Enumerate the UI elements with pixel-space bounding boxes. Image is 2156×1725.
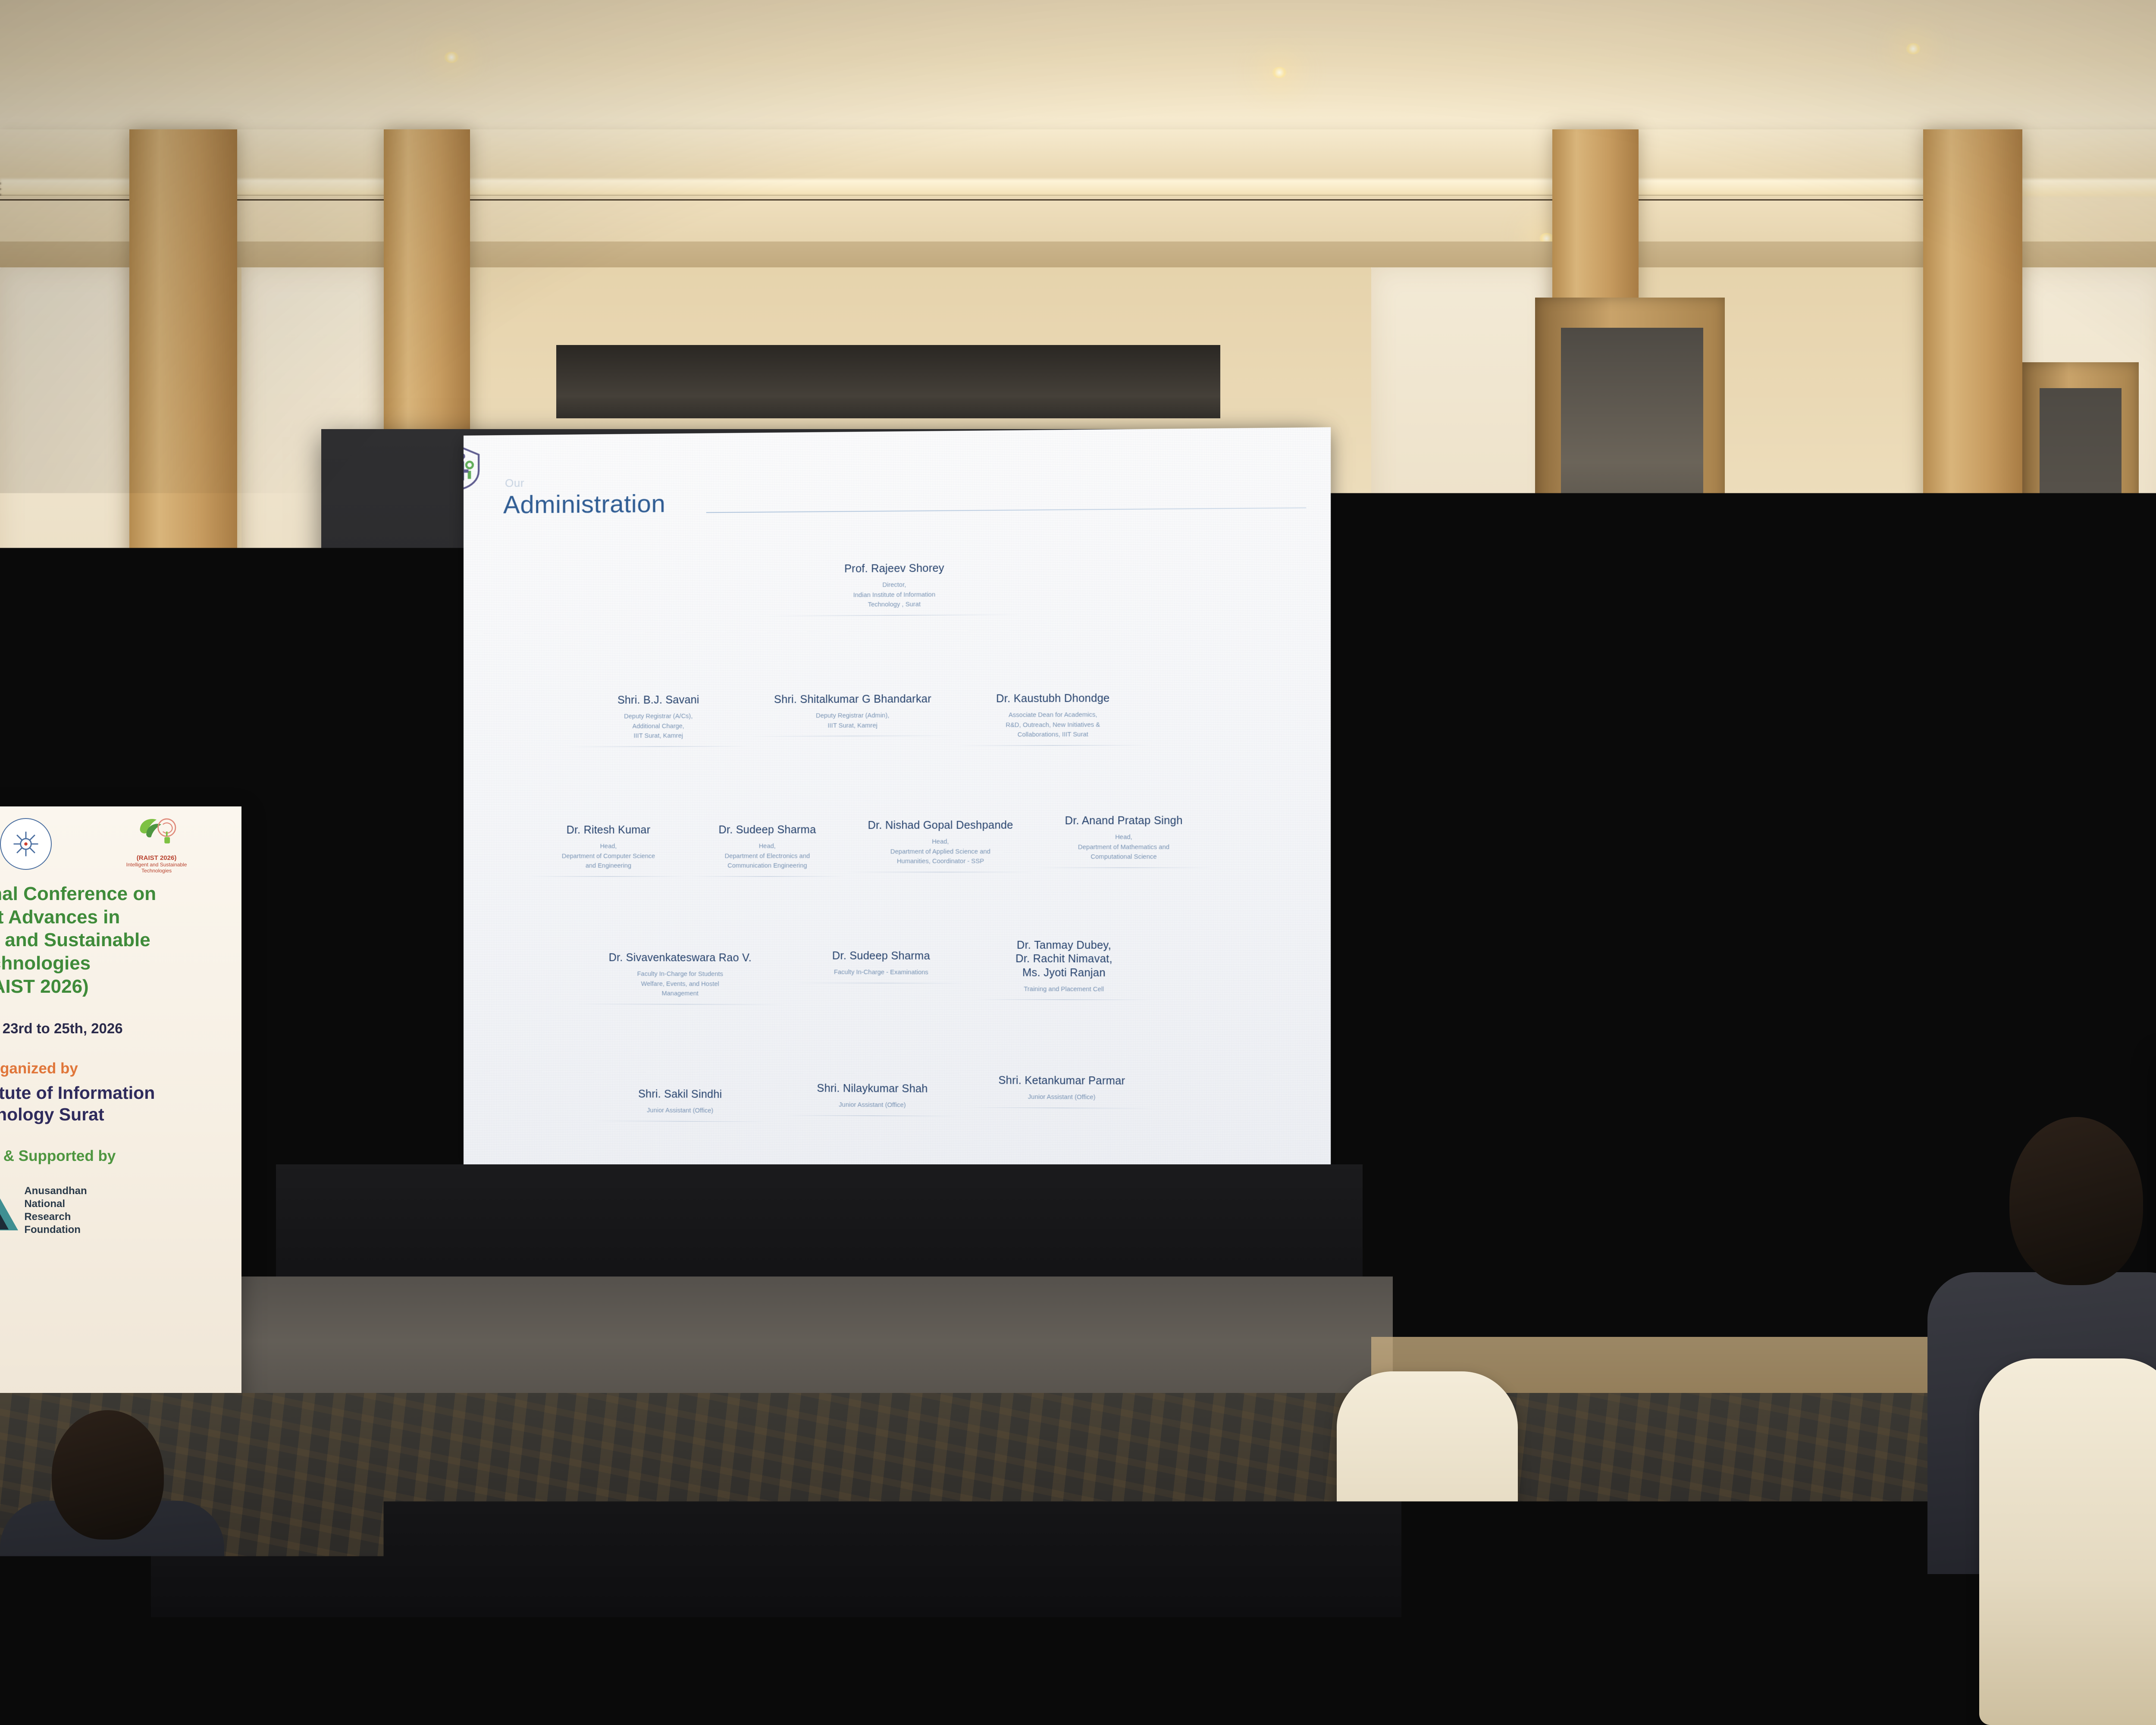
wall-light-strip (129, 750, 241, 762)
raist-mark-line: Technologies (126, 868, 187, 874)
ceiling-downlight (444, 52, 459, 63)
anrf-line: Foundation (1762, 1172, 1820, 1184)
admin-person-role: Deputy Registrar (Admin), IIIT Surat, Ka… (750, 711, 956, 731)
admin-person: Dr. Sudeep Sharma Faculty In-Charge - Ex… (793, 949, 969, 983)
admin-person-rule (1035, 867, 1213, 868)
raist-leaf-brain-logo: (RAIST 2026) Intelligent and Sustainable… (126, 814, 187, 874)
presentation-slide: Our Administration Prof. Rajeev Shorey D… (464, 427, 1331, 1174)
banner-title: International Conference on Recent Advan… (1535, 868, 1996, 975)
admin-person-name: Shri. Sakil Sindhi (593, 1087, 768, 1101)
ceiling-slab (0, 129, 2156, 181)
admin-person-name: Dr. Anand Pratap Singh (1035, 814, 1213, 828)
banner-title-line: International Conference on (1543, 868, 1989, 889)
anrf-line: Anusandhan (24, 1185, 87, 1198)
banner-organizer: Indian Institute of Information Technolo… (1535, 1050, 1996, 1087)
wall-recess (556, 345, 1220, 418)
banner-title-line: Technologies (0, 952, 232, 975)
admin-person: Dr. Ritesh Kumar Head, Department of Com… (528, 823, 689, 876)
ceremonial-lamp-bowl (1412, 988, 1490, 1002)
admin-person: Dr. Nishad Gopal Deshpande Head, Departm… (846, 819, 1035, 872)
admin-person-rule (976, 999, 1153, 1000)
admin-person: Shri. B.J. Savani Deputy Registrar (A/Cs… (567, 693, 749, 747)
admin-person: Dr. Kaustubh Dhondge Associate Dean for … (956, 692, 1150, 746)
banner-date: February 23rd to 25th, 2026 (0, 1020, 241, 1037)
raist-mark-line: (RAIST 2026) (126, 854, 187, 862)
banner-logo-row: (RAIST 2026) Intelligent and Sustainable… (0, 806, 241, 871)
iiit-council-logo (1797, 811, 1844, 858)
slide-title: Administration (503, 489, 665, 519)
admin-person-role: Junior Assistant (Office) (969, 1092, 1155, 1103)
admin-person-name: Dr. Nishad Gopal Deshpande (846, 819, 1035, 832)
anrf-text: Anusandhan National Research Foundation (24, 1185, 87, 1236)
banner-funded-label: Funded & Supported by (0, 1148, 241, 1165)
chair[interactable] (1979, 1358, 2156, 1725)
admin-person: Dr. Tanmay Dubey, Dr. Rachit Nimavat, Ms… (976, 938, 1153, 1000)
banner-date: February 23rd to 25th, 2026 (1535, 995, 1996, 1010)
admin-person-name: Dr. Sudeep Sharma (793, 949, 969, 963)
banner-organizer: Indian Institute of Information Technolo… (0, 1082, 241, 1125)
speaker-at-podium (2147, 819, 2156, 1121)
anrf-text: Anusandhan National Research Foundation (1762, 1136, 1820, 1184)
ceiling-downlight (1272, 67, 1287, 78)
banner-title-line: Intelligent and Sustainable (0, 928, 232, 952)
projection-screen: Our Administration Prof. Rajeev Shorey D… (464, 427, 1331, 1174)
chair[interactable] (1281, 1587, 1483, 1725)
admin-person-rule (689, 876, 846, 877)
ministry-of-education-logo (1686, 811, 1733, 858)
admin-person: Shri. Nilaykumar Shah Junior Assistant (… (785, 1082, 960, 1116)
admin-person-name: Shri. Nilaykumar Shah (785, 1082, 960, 1096)
admin-person-name: Dr. Tanmay Dubey, Dr. Rachit Nimavat, Ms… (976, 938, 1153, 980)
admin-person-role: Head, Department of Applied Science and … (846, 837, 1035, 866)
banner-organizer-line: Indian Institute of Information (1535, 1050, 1996, 1068)
admin-person-name: Prof. Rajeev Shorey (767, 561, 1022, 576)
idol-crown (1479, 980, 1539, 1016)
iiit-surat-shield-logo (1582, 811, 1622, 858)
admin-person: Shri. Ketankumar Parmar Junior Assistant… (969, 1074, 1155, 1109)
admin-person-rule (567, 746, 749, 747)
admin-person-rule (767, 614, 1022, 616)
admin-person-role: Faculty In-Charge - Examinations (793, 968, 969, 978)
attendee-head (52, 1410, 164, 1540)
chair[interactable] (1751, 1345, 1940, 1673)
admin-person-name: Dr. Sivavenkateswara Rao V. (576, 951, 785, 965)
admin-person-rule (846, 872, 1035, 872)
door-glass-panel (2040, 388, 2122, 1000)
admin-person: Shri. Sakil Sindhi Junior Assistant (Off… (593, 1087, 768, 1122)
anusandhan-national-research-foundation-logo: Anusandhan National Research Foundation (0, 1185, 241, 1236)
anrf-line: Research (1762, 1160, 1820, 1172)
admin-person-rule (956, 745, 1150, 746)
admin-person: Dr. Sivavenkateswara Rao V. Faculty In-C… (576, 951, 785, 1004)
admin-person-role: Faculty In-Charge for Students Welfare, … (576, 969, 785, 999)
banner-title-line: Recent Advances in (1543, 889, 1989, 911)
admin-person-name: Shri. Shitalkumar G Bhandarkar (750, 692, 956, 706)
admin-person-rule (528, 876, 689, 877)
admin-person-role: Training and Placement Cell (976, 984, 1153, 994)
slide-title-rule (706, 508, 1306, 513)
admin-person-rule (750, 736, 956, 737)
admin-person-rule (593, 1120, 768, 1122)
banner-organized-by-label: Organized by (1535, 1029, 1996, 1045)
anrf-line: National (1762, 1148, 1820, 1160)
banner-title-line: Recent Advances in (0, 906, 232, 929)
conference-hall-scene: EXIT Our Administration (0, 0, 2156, 1725)
banner-organized-by-label: Organized by (0, 1060, 241, 1077)
anusandhan-national-research-foundation-logo: Anusandhan National Research Foundation (1535, 1136, 1996, 1184)
attendee-head (2009, 1117, 2143, 1285)
banner-title-line: Intelligent and Sustainable (1543, 911, 1989, 932)
banner-title-line: Technologies (1543, 932, 1989, 954)
banner-title-line: (RAIST 2026) (1543, 954, 1989, 975)
banner-organizer-line: Technology Surat (0, 1104, 241, 1125)
admin-person-name: Dr. Sudeep Sharma (689, 823, 846, 837)
door-glass-panel (1561, 328, 1703, 552)
admin-person-role: Associate Dean for Academics, R&D, Outre… (956, 710, 1150, 740)
banner-title-line: International Conference on (0, 882, 232, 906)
admin-person-rule (785, 1115, 960, 1116)
anrf-line: Foundation (24, 1223, 87, 1236)
admin-person: Prof. Rajeev Shorey Director, Indian Ins… (767, 561, 1022, 616)
iiit-council-logo (0, 818, 52, 870)
admin-person-role: Head, Department of Computer Science and… (528, 842, 689, 871)
admin-person: Shri. Shitalkumar G Bhandarkar Deputy Re… (750, 692, 956, 737)
banner-logo-row (1535, 802, 1996, 859)
admin-person-role: Deputy Registrar (A/Cs), Additional Char… (567, 712, 749, 741)
admin-person-role: Director, Indian Institute of Informatio… (767, 580, 1022, 611)
admin-person-name: Shri. Ketankumar Parmar (969, 1074, 1155, 1088)
ceremonial-lamp-finial (1444, 918, 1457, 949)
raist-leaf-brain-logo (1908, 817, 1949, 852)
banner-organizer-line: Indian Institute of Information (0, 1082, 241, 1104)
iiit-surat-shield-logo (464, 447, 481, 490)
banner-title: International Conference on Recent Advan… (0, 882, 241, 998)
admin-person-name: Dr. Kaustubh Dhondge (956, 692, 1150, 706)
anrf-line: National (24, 1198, 87, 1211)
admin-person-name: Dr. Ritesh Kumar (528, 823, 689, 837)
chair[interactable] (1501, 1613, 1716, 1725)
ceiling-downlight (1906, 43, 1921, 54)
admin-person-rule (576, 1004, 785, 1004)
podium-top-surface (2150, 1037, 2156, 1058)
banner-title-line: (RAIST 2026) (0, 975, 232, 998)
admin-person-role: Junior Assistant (Office) (785, 1100, 960, 1111)
anrf-triangle-mark (0, 1191, 18, 1230)
ceremonial-lamp-stem (1445, 940, 1457, 1121)
anrf-triangle-mark (1711, 1140, 1756, 1180)
admin-person-role: Head, Department of Electronics and Comm… (689, 842, 846, 871)
slide-eyebrow: Our (505, 477, 524, 490)
admin-person: Dr. Anand Pratap Singh Head, Department … (1035, 814, 1213, 868)
admin-person-role: Head, Department of Mathematics and Comp… (1035, 832, 1213, 862)
anrf-line: Anusandhan (1762, 1136, 1820, 1148)
admin-person: Dr. Sudeep Sharma Head, Department of El… (689, 823, 846, 877)
conference-banner-left: (RAIST 2026) Intelligent and Sustainable… (0, 806, 241, 1440)
admin-person-rule (793, 982, 969, 983)
admin-person-rule (969, 1107, 1155, 1108)
admin-person-name: Shri. B.J. Savani (567, 693, 749, 707)
table-leg (1490, 1132, 1514, 1313)
banner-organizer-line: Technology Surat (1535, 1068, 1996, 1087)
cove-light-glow (0, 179, 2156, 196)
admin-person-role: Junior Assistant (Office) (593, 1106, 768, 1117)
anrf-line: Research (24, 1211, 87, 1223)
raist-mark-line: Intelligent and Sustainable (126, 862, 187, 868)
